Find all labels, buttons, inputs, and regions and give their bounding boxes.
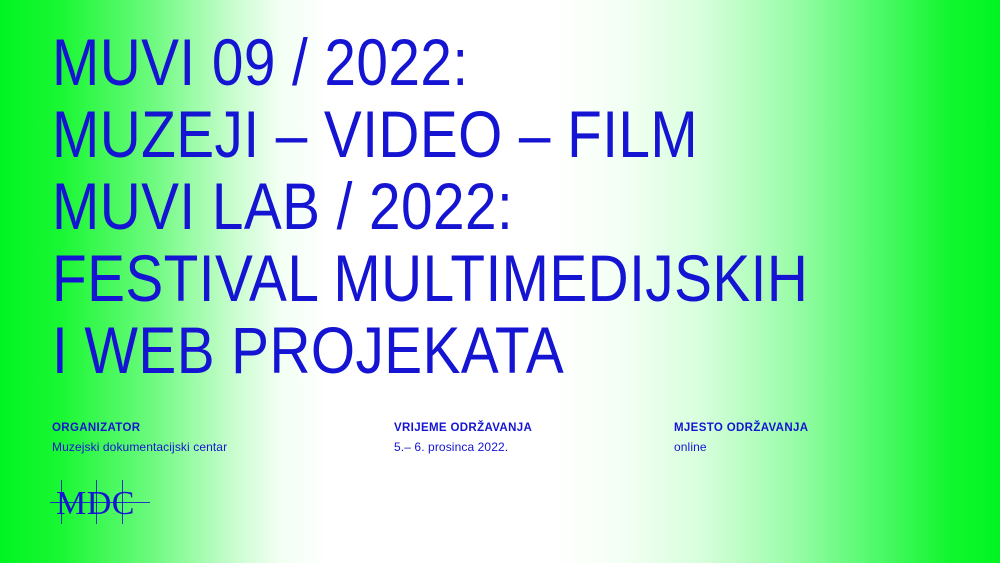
meta-value-vrijeme: 5.– 6. prosinca 2022. — [394, 439, 674, 456]
mdc-wordmark: MDC — [56, 485, 135, 522]
headline-line-3: MUVI LAB / 2022: — [52, 170, 843, 242]
meta-row: ORGANIZATOR Muzejski dokumentacijski cen… — [52, 420, 952, 456]
meta-column-organizator: ORGANIZATOR Muzejski dokumentacijski cen… — [52, 420, 332, 456]
mdc-logo-icon: MDC — [50, 478, 154, 528]
headline-line-1: MUVI 09 / 2022: — [52, 26, 843, 98]
meta-label-vrijeme: VRIJEME ODRŽAVANJA — [394, 420, 674, 436]
headline-line-5: I WEB PROJEKATA — [52, 314, 843, 386]
meta-label-organizator: ORGANIZATOR — [52, 420, 332, 436]
meta-label-mjesto: MJESTO ODRŽAVANJA — [674, 420, 954, 436]
headline-line-4: FESTIVAL MULTIMEDIJSKIH — [52, 242, 843, 314]
meta-column-vrijeme: VRIJEME ODRŽAVANJA 5.– 6. prosinca 2022. — [394, 420, 674, 456]
meta-column-mjesto: MJESTO ODRŽAVANJA online — [674, 420, 954, 456]
headline-block: MUVI 09 / 2022: MUZEJI – VIDEO – FILM MU… — [52, 26, 972, 386]
headline-line-2: MUZEJI – VIDEO – FILM — [52, 98, 843, 170]
mdc-logo: MDC — [50, 478, 154, 528]
poster-canvas: MUVI 09 / 2022: MUZEJI – VIDEO – FILM MU… — [0, 0, 1000, 563]
meta-value-mjesto: online — [674, 439, 954, 456]
meta-value-organizator: Muzejski dokumentacijski centar — [52, 439, 332, 456]
